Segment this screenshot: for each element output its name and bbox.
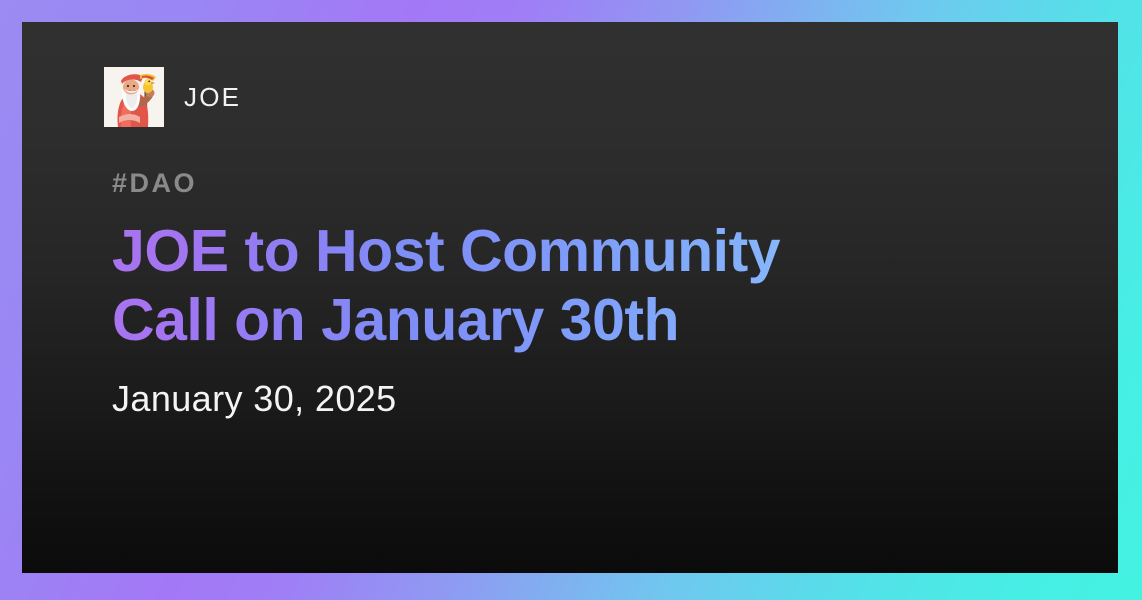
project-name: JOE [184,84,241,110]
card-header: JOE [104,67,241,127]
card-panel: JOE #DAO JOE to Host Community Call on J… [22,22,1118,573]
event-date: January 30, 2025 [112,381,1058,417]
category-tag[interactable]: #DAO [112,170,1058,197]
wizard-avatar-icon [104,67,164,127]
headline: JOE to Host Community Call on January 30… [112,217,902,355]
announcement-card: JOE #DAO JOE to Host Community Call on J… [0,0,1142,600]
card-body: #DAO JOE to Host Community Call on Janua… [112,170,1058,417]
